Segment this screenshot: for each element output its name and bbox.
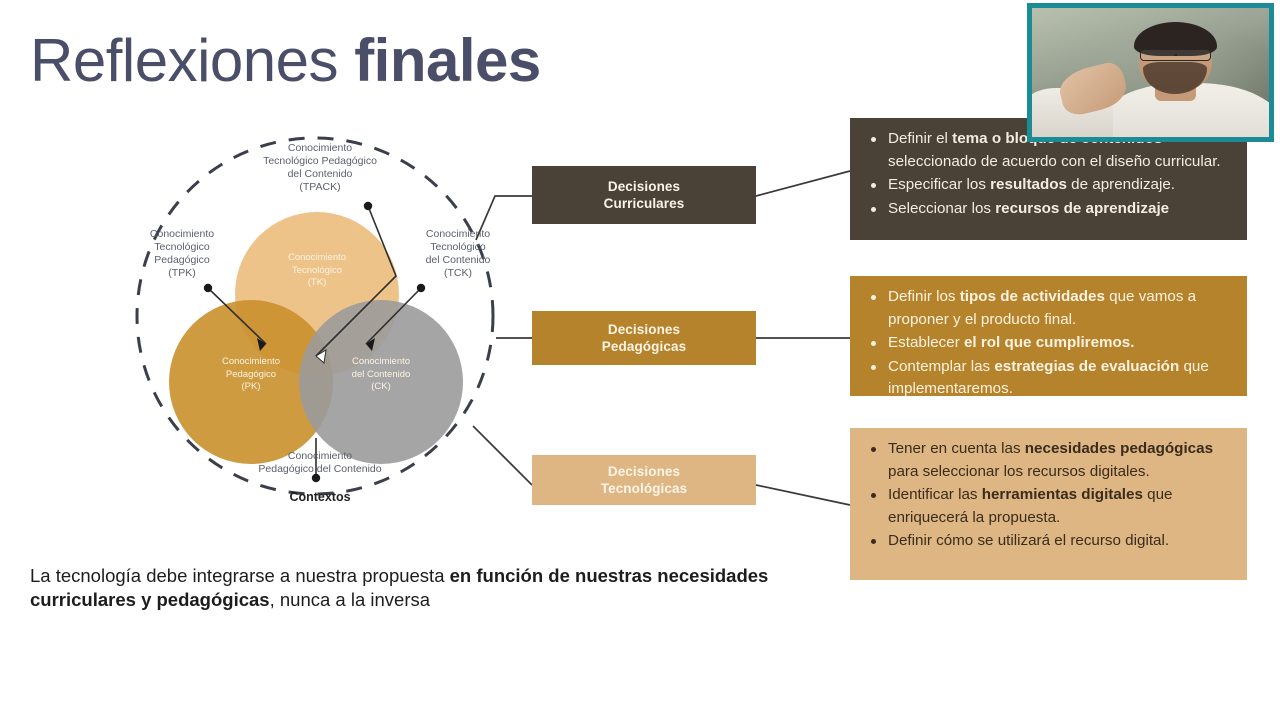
bullet-item: Especificar los resultados de aprendizaj… bbox=[866, 174, 1233, 197]
page-title: Reflexiones finales bbox=[30, 26, 541, 95]
emphasis-text: el rol que cumpliremos. bbox=[964, 334, 1134, 351]
plain-text: Especificar los bbox=[888, 176, 990, 193]
label-tk-line3: (TK) bbox=[247, 277, 387, 290]
plain-text: La tecnología debe integrarse a nuestra … bbox=[30, 565, 450, 586]
presentation-slide: Reflexiones finales bbox=[0, 0, 1280, 720]
label-ck-line2: del Contenido bbox=[311, 369, 451, 382]
decision-box-pedagogicas[interactable]: Decisiones Pedagógicas bbox=[532, 311, 756, 365]
closing-caption: La tecnología debe integrarse a nuestra … bbox=[30, 564, 790, 612]
bullet-item: Seleccionar los recursos de aprendizaje bbox=[866, 198, 1233, 221]
decision-box-curriculares-line2: Curriculares bbox=[604, 195, 685, 212]
label-pck-line1: Conocimiento bbox=[200, 450, 440, 463]
label-ck-line3: (CK) bbox=[311, 381, 451, 394]
page-title-bold: finales bbox=[354, 27, 541, 94]
plain-text: Definir el bbox=[888, 130, 952, 147]
bullet-item: Contemplar las estrategias de evaluación… bbox=[866, 356, 1233, 401]
bullet-item: Establecer el rol que cumpliremos. bbox=[866, 332, 1233, 355]
decision-box-pedagogicas-line1: Decisiones bbox=[602, 321, 686, 338]
plain-text: seleccionado de acuerdo con el diseño cu… bbox=[888, 153, 1221, 170]
label-ck-line1: Conocimiento bbox=[311, 356, 451, 369]
decision-box-tecnologicas-line1: Decisiones bbox=[601, 463, 687, 480]
label-tk: Conocimiento Tecnológico (TK) bbox=[247, 252, 387, 290]
glasses-icon bbox=[1140, 49, 1211, 61]
plain-text: Establecer bbox=[888, 334, 964, 351]
label-tpack-line4: (TPACK) bbox=[220, 181, 420, 194]
plain-text: de aprendizaje. bbox=[1067, 176, 1175, 193]
label-pk-line3: (PK) bbox=[181, 381, 321, 394]
bullet-item: Tener en cuenta las necesidades pedagógi… bbox=[866, 438, 1233, 483]
plain-text: Identificar las bbox=[888, 486, 982, 503]
emphasis-text: resultados bbox=[990, 176, 1067, 193]
connector-box1-to-panel1 bbox=[756, 171, 850, 196]
label-tck-line4: (TCK) bbox=[388, 267, 528, 280]
label-tpk-line3: Pedagógico bbox=[112, 254, 252, 267]
label-tpk: Conocimiento Tecnológico Pedagógico (TPK… bbox=[112, 228, 252, 280]
leader-dot-tpk bbox=[204, 284, 212, 292]
plain-text: Tener en cuenta las bbox=[888, 440, 1025, 457]
label-pk: Conocimiento Pedagógico (PK) bbox=[181, 356, 321, 394]
bullet-item: Definir los tipos de actividades que vam… bbox=[866, 286, 1233, 331]
label-tck-line1: Conocimiento bbox=[388, 228, 528, 241]
label-tpk-line1: Conocimiento bbox=[112, 228, 252, 241]
decision-box-curriculares[interactable]: Decisiones Curriculares bbox=[532, 166, 756, 224]
bullet-item: Identificar las herramientas digitales q… bbox=[866, 484, 1233, 529]
label-tpk-line4: (TPK) bbox=[112, 267, 252, 280]
emphasis-text: herramientas digitales bbox=[982, 486, 1143, 503]
emphasis-text: estrategias de evaluación bbox=[994, 358, 1179, 375]
panel-tecnologicas-list: Tener en cuenta las necesidades pedagógi… bbox=[866, 438, 1233, 553]
label-tpack-line1: Conocimiento bbox=[220, 142, 420, 155]
panel-pedagogicas-list: Definir los tipos de actividades que vam… bbox=[866, 286, 1233, 401]
page-title-light: Reflexiones bbox=[30, 27, 354, 94]
decision-box-pedagogicas-line2: Pedagógicas bbox=[602, 338, 686, 355]
label-tk-line1: Conocimiento bbox=[247, 252, 387, 265]
leader-dot-tpack bbox=[364, 202, 372, 210]
tpack-diagram: Conocimiento Tecnológico Pedagógico del … bbox=[110, 128, 530, 528]
decision-box-curriculares-line1: Decisiones bbox=[604, 178, 685, 195]
decision-box-tecnologicas-line2: Tecnológicas bbox=[601, 480, 687, 497]
plain-text: , nunca a la inversa bbox=[270, 589, 430, 610]
webcam-overlay[interactable] bbox=[1027, 3, 1274, 142]
label-tpack-line2: Tecnológico Pedagógico bbox=[220, 155, 420, 168]
label-tpack-line3: del Contenido bbox=[220, 168, 420, 181]
emphasis-text: tipos de actividades bbox=[960, 288, 1105, 305]
bullet-item: Definir cómo se utilizará el recurso dig… bbox=[866, 530, 1233, 553]
label-tk-line2: Tecnológico bbox=[247, 265, 387, 278]
label-tck: Conocimiento Tecnológico del Contenido (… bbox=[388, 228, 528, 280]
plain-text: Definir cómo se utilizará el recurso dig… bbox=[888, 532, 1169, 549]
connector-box3-to-panel3 bbox=[756, 485, 850, 505]
plain-text: Contemplar las bbox=[888, 358, 994, 375]
label-pk-line1: Conocimiento bbox=[181, 356, 321, 369]
leader-dot-tck bbox=[417, 284, 425, 292]
label-pck-line2: Pedagógico del Contenido bbox=[200, 463, 440, 476]
label-tck-line2: Tecnológico bbox=[388, 241, 528, 254]
decision-box-tecnologicas[interactable]: Decisiones Tecnológicas bbox=[532, 455, 756, 505]
emphasis-text: recursos de aprendizaje bbox=[995, 200, 1169, 217]
label-tpack: Conocimiento Tecnológico Pedagógico del … bbox=[220, 142, 420, 194]
label-tpk-line2: Tecnológico bbox=[112, 241, 252, 254]
panel-tecnologicas: Tener en cuenta las necesidades pedagógi… bbox=[850, 428, 1247, 580]
plain-text: Seleccionar los bbox=[888, 200, 995, 217]
label-ck: Conocimiento del Contenido (CK) bbox=[311, 356, 451, 394]
emphasis-text: necesidades pedagógicas bbox=[1025, 440, 1213, 457]
plain-text: para seleccionar los recursos digitales. bbox=[888, 463, 1150, 480]
panel-pedagogicas: Definir los tipos de actividades que vam… bbox=[850, 276, 1247, 396]
label-tck-line3: del Contenido bbox=[388, 254, 528, 267]
plain-text: Definir los bbox=[888, 288, 960, 305]
label-pk-line2: Pedagógico bbox=[181, 369, 321, 382]
label-pck: Conocimiento Pedagógico del Contenido bbox=[200, 450, 440, 476]
label-contextos: Contextos bbox=[110, 490, 530, 504]
